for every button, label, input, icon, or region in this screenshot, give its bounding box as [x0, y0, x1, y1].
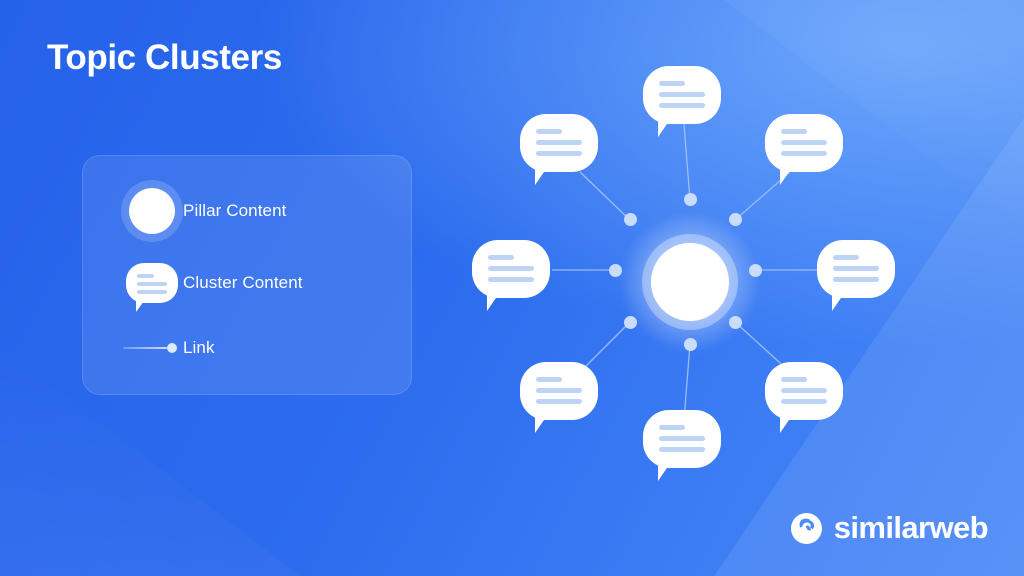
legend-label-link: Link [183, 338, 215, 358]
cluster-content-node[interactable] [765, 114, 843, 172]
connector-dot-bottom-right [729, 316, 742, 329]
connector-dot-bottom-left [624, 316, 637, 329]
cluster-content-node[interactable] [643, 410, 721, 468]
pillar-content-node[interactable] [651, 243, 729, 321]
similarweb-logo: similarweb [790, 510, 988, 546]
cluster-content-node[interactable] [520, 114, 598, 172]
connector-dot-bottom [684, 338, 697, 351]
legend-label-cluster: Cluster Content [183, 273, 303, 293]
similarweb-wordmark: similarweb [834, 510, 988, 546]
cluster-content-node[interactable] [643, 66, 721, 124]
speech-bubble-icon [121, 263, 183, 303]
legend-label-pillar: Pillar Content [183, 201, 286, 221]
connector-dot-top [684, 193, 697, 206]
page-title: Topic Clusters [47, 38, 282, 78]
cluster-content-node[interactable] [520, 362, 598, 420]
topic-cluster-diagram [460, 52, 920, 492]
cluster-content-node[interactable] [817, 240, 895, 298]
pillar-circle-icon [121, 188, 183, 234]
legend-card: Pillar Content Cluster Content Link [82, 155, 412, 395]
connector-dot-right [749, 264, 762, 277]
legend-item-cluster-content: Cluster Content [121, 263, 303, 303]
connector-dot-left [609, 264, 622, 277]
connector-dot-top-right [729, 213, 742, 226]
similarweb-swirl-icon [790, 512, 823, 545]
cluster-content-node[interactable] [765, 362, 843, 420]
connector-dot-top-left [624, 213, 637, 226]
legend-item-pillar-content: Pillar Content [121, 188, 286, 234]
legend-item-link: Link [121, 338, 215, 358]
slide-canvas: Topic Clusters Pillar Content Cluster Co… [0, 0, 1024, 576]
link-line-icon [121, 342, 183, 354]
cluster-content-node[interactable] [472, 240, 550, 298]
